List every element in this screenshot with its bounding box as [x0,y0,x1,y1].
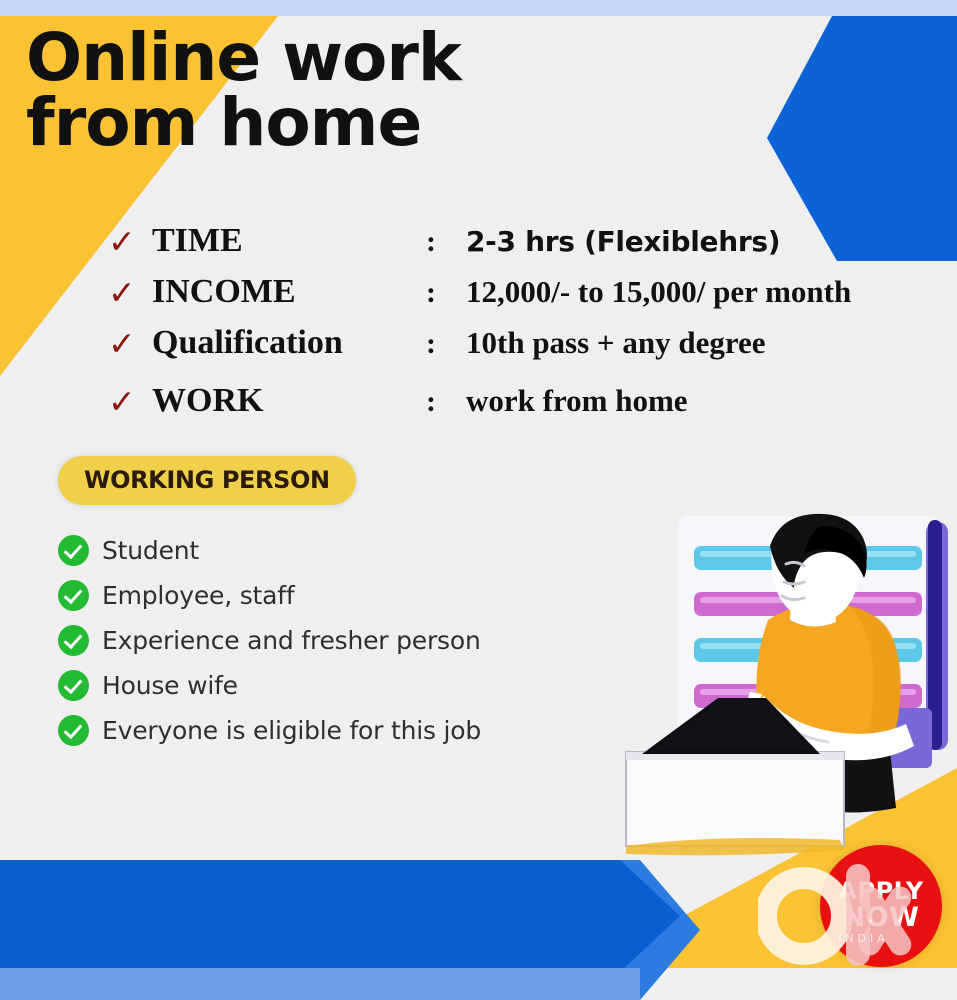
check-tick-icon: ✓ [108,225,152,258]
green-check-icon [58,535,89,566]
working-person-badge-label: WORKING PERSON [84,466,330,494]
list-item-label: Employee, staff [102,581,294,610]
headline-line-1: Online work [26,26,726,91]
green-check-icon [58,580,89,611]
apply-now-button[interactable]: APPLY NOW [820,845,942,967]
headline-line-2: from home [26,91,726,156]
spec-colon: : [426,327,466,361]
spec-label: INCOME [152,273,426,311]
check-tick-icon: ✓ [108,385,152,418]
list-item-label: Everyone is eligible for this job [102,716,481,745]
eligibility-list: Student Employee, staff Experience and f… [58,528,481,753]
list-item: Everyone is eligible for this job [58,708,481,753]
apply-now-line-2: NOW [843,904,920,932]
person-working-on-laptop-illustration [606,508,957,858]
spec-value: 2-3 hrs (Flexiblehrs) [466,225,780,258]
apply-now-line-1: APPLY [838,879,923,904]
spec-list: ✓ TIME : 2-3 hrs (Flexiblehrs) ✓ INCOME … [108,222,957,433]
list-item-label: Student [102,536,199,565]
list-item-label: House wife [102,671,238,700]
spec-label: Qualification [152,324,426,362]
spec-row-time: ✓ TIME : 2-3 hrs (Flexiblehrs) [108,222,957,273]
spec-colon: : [426,276,466,310]
list-item: House wife [58,663,481,708]
spec-colon: : [426,385,466,419]
spec-row-work: ✓ WORK : work from home [108,382,957,433]
spec-colon: : [426,225,466,259]
check-tick-icon: ✓ [108,327,152,360]
spec-label: WORK [152,382,426,420]
spec-label: TIME [152,222,426,260]
poster-canvas: Online work from home ✓ TIME : 2-3 hrs (… [0,0,957,1000]
green-check-icon [58,625,89,656]
list-item: Experience and fresher person [58,618,481,663]
list-item-label: Experience and fresher person [102,626,481,655]
green-check-icon [58,670,89,701]
working-person-badge: WORKING PERSON [58,456,356,505]
top-edge-strip [0,0,957,16]
check-tick-icon: ✓ [108,276,152,309]
spec-value: work from home [466,383,688,419]
page-title: Online work from home [26,26,726,155]
spec-row-qualification: ✓ Qualification : 10th pass + any degree [108,324,957,375]
spec-value: 10th pass + any degree [466,325,766,361]
bottom-blue-light-strip [0,968,640,1000]
green-check-icon [58,715,89,746]
spec-row-income: ✓ INCOME : 12,000/- to 15,000/ per month [108,273,957,324]
spec-value: 12,000/- to 15,000/ per month [466,274,851,310]
list-item: Employee, staff [58,573,481,618]
list-item: Student [58,528,481,573]
bottom-blue-dark-band [0,860,700,972]
